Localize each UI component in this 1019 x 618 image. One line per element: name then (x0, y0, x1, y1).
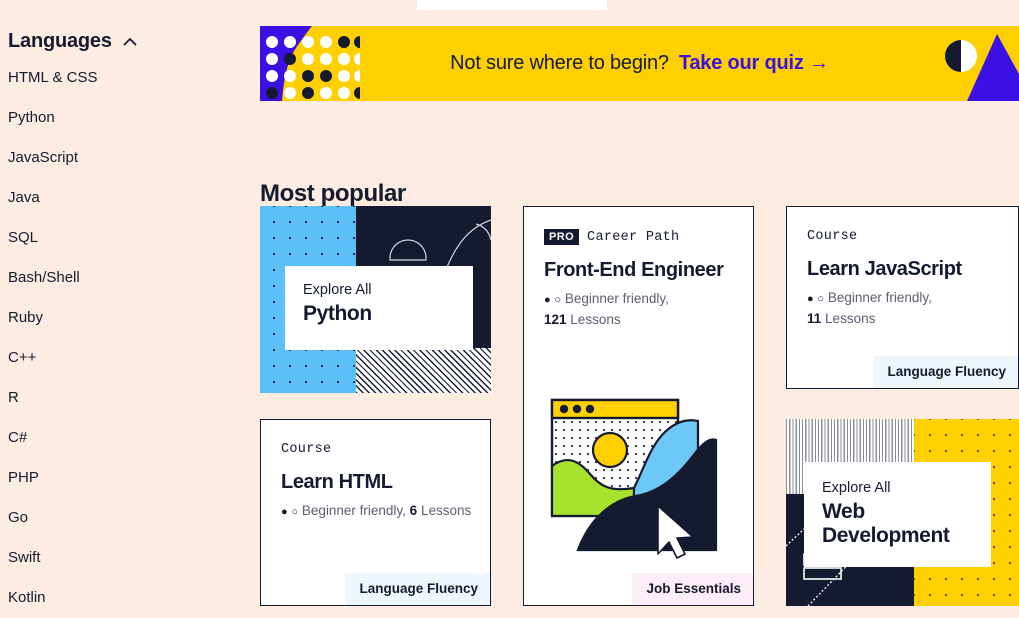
difficulty-dot-filled-icon: ● (807, 293, 814, 305)
card-kicker: Explore All (822, 480, 991, 496)
card-kicker-row: Course (807, 229, 1000, 244)
sidebar: Languages HTML & CSS Python JavaScript J… (0, 0, 258, 618)
card-kicker: Course (807, 229, 857, 244)
sidebar-item-go[interactable]: Go (8, 510, 258, 525)
top-partial-panel (417, 0, 607, 10)
sidebar-title: Languages (8, 30, 112, 53)
card-explore-web-development[interactable]: Explore All Web Development (786, 419, 1019, 606)
card-grid: Explore All Python PRO Career Path Front… (260, 206, 1019, 606)
card-tag-language-fluency: Language Fluency (345, 573, 490, 605)
chevron-up-icon[interactable] (122, 34, 138, 50)
sidebar-item-swift[interactable]: Swift (8, 550, 258, 565)
card-kicker-row: Course (281, 442, 472, 457)
card-meta: ● ○ Beginner friendly, 11 Lessons (807, 288, 1000, 330)
card-course-learn-html[interactable]: Course Learn HTML ● ○ Beginner friendly,… (260, 419, 491, 606)
card-tag-language-fluency: Language Fluency (873, 356, 1018, 388)
browser-landscape-cursor-icon (538, 388, 741, 563)
card-title: Python (303, 302, 473, 326)
difficulty-dot-filled-icon: ● (281, 506, 288, 518)
card-kicker: Explore All (303, 282, 473, 298)
lesson-count: 11 (807, 311, 821, 326)
sidebar-item-java[interactable]: Java (8, 190, 258, 205)
python-art-hatch-panel (356, 348, 491, 393)
sidebar-language-list: HTML & CSS Python JavaScript Java SQL Ba… (0, 56, 258, 605)
pro-badge: PRO (544, 229, 579, 245)
sidebar-item-ruby[interactable]: Ruby (8, 310, 258, 325)
difficulty-dot-empty-icon: ○ (817, 293, 824, 305)
difficulty-label: Beginner friendly, (302, 503, 406, 518)
lesson-word: Lessons (421, 503, 471, 518)
card-kicker: Course (281, 442, 331, 457)
sidebar-section-header[interactable]: Languages (0, 26, 258, 56)
sidebar-item-sql[interactable]: SQL (8, 230, 258, 245)
difficulty-dot-empty-icon: ○ (554, 294, 561, 306)
sidebar-item-cpp[interactable]: C++ (8, 350, 258, 365)
sidebar-item-javascript[interactable]: JavaScript (8, 150, 258, 165)
card-title-line1: Web (822, 500, 991, 524)
card-meta: ● ○ Beginner friendly, 6 Lessons (281, 501, 472, 522)
banner-question: Not sure where to begin? (450, 52, 669, 75)
quiz-banner[interactable]: Not sure where to begin? Take our quiz → (260, 26, 1019, 101)
sidebar-item-php[interactable]: PHP (8, 470, 258, 485)
card-explore-python[interactable]: Explore All Python (260, 206, 491, 393)
python-card-label-box: Explore All Python (285, 266, 473, 350)
difficulty-dot-filled-icon: ● (544, 294, 551, 306)
difficulty-label: Beginner friendly, (565, 291, 669, 306)
difficulty-label: Beginner friendly, (828, 290, 932, 305)
sidebar-item-csharp[interactable]: C# (8, 430, 258, 445)
card-course-learn-javascript[interactable]: Course Learn JavaScript ● ○ Beginner fri… (786, 206, 1019, 389)
sidebar-item-python[interactable]: Python (8, 110, 258, 125)
card-tag-job-essentials: Job Essentials (632, 573, 753, 605)
card-title: Learn HTML (281, 471, 472, 494)
card-title: Front-End Engineer (544, 259, 735, 282)
card-meta: ● ○ Beginner friendly, 121 Lessons (544, 289, 735, 331)
page-root: Languages HTML & CSS Python JavaScript J… (0, 0, 1019, 618)
sidebar-item-r[interactable]: R (8, 390, 258, 405)
card-career-path-front-end-engineer[interactable]: PRO Career Path Front-End Engineer ● ○ B… (523, 206, 754, 606)
section-title-most-popular: Most popular (260, 180, 406, 208)
lesson-word: Lessons (825, 311, 875, 326)
card-title-line2: Development (822, 524, 991, 548)
lesson-word: Lessons (570, 312, 620, 327)
sidebar-item-kotlin[interactable]: Kotlin (8, 590, 258, 605)
card-kicker: Career Path (587, 230, 679, 245)
sidebar-item-html-css[interactable]: HTML & CSS (8, 70, 258, 85)
difficulty-dot-empty-icon: ○ (291, 506, 298, 518)
lesson-count: 6 (410, 503, 418, 518)
webdev-card-label-box: Explore All Web Development (804, 462, 991, 567)
mountain-moon-icon (879, 26, 1019, 101)
lesson-count: 121 (544, 312, 567, 327)
card-title: Learn JavaScript (807, 258, 1000, 281)
take-quiz-link[interactable]: Take our quiz → (679, 52, 829, 75)
sidebar-item-bash-shell[interactable]: Bash/Shell (8, 270, 258, 285)
card-kicker-row: PRO Career Path (544, 229, 735, 245)
